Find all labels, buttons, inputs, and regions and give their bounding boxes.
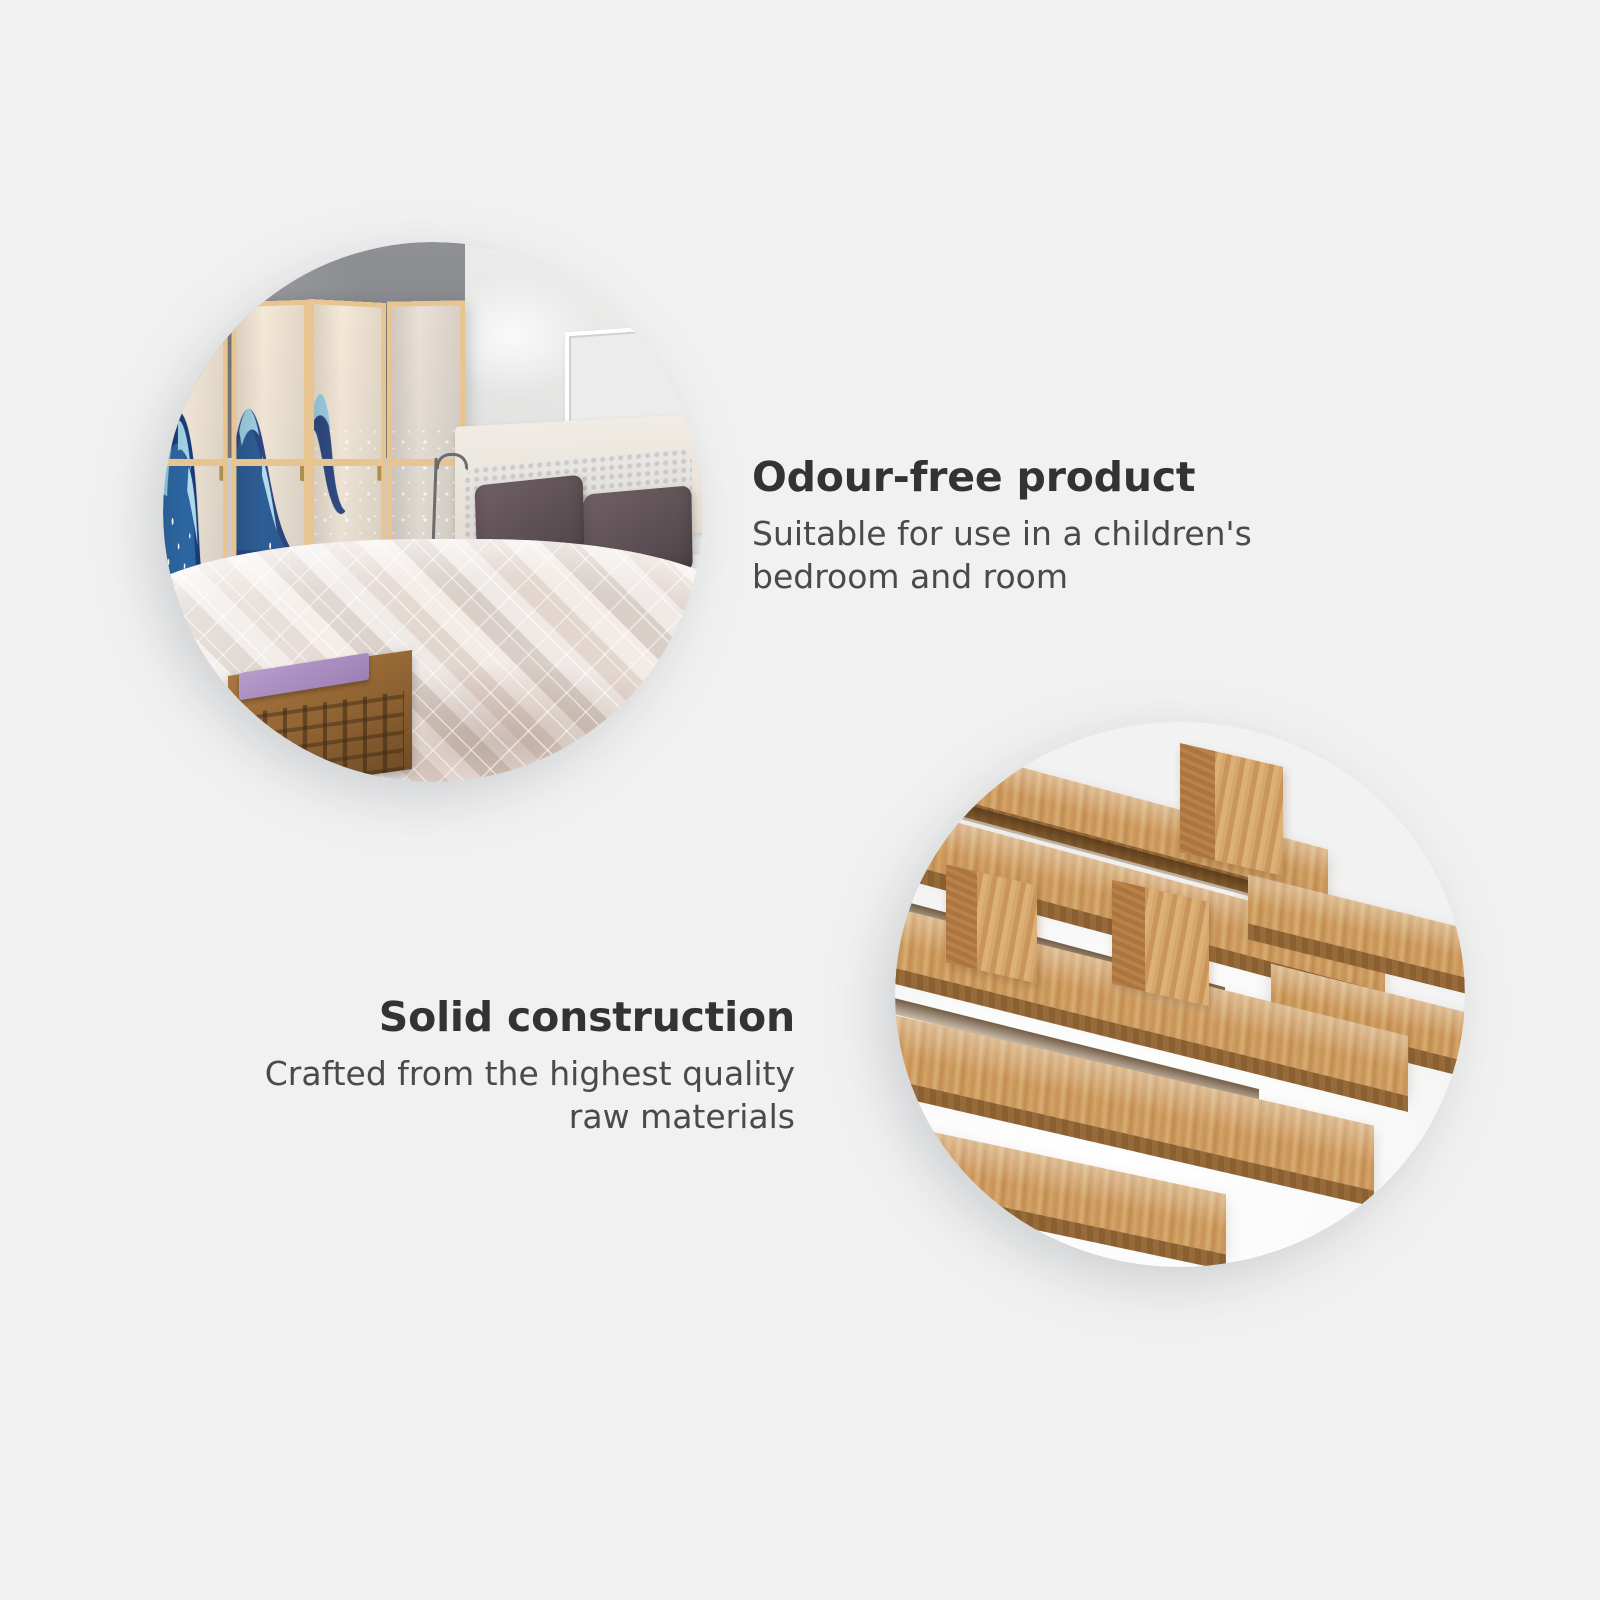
bedroom-scene bbox=[163, 242, 703, 782]
feature-description: Crafted from the highest quality raw mat… bbox=[200, 1053, 795, 1139]
promo-stage: Odour-free product Suitable for use in a… bbox=[0, 0, 1600, 1600]
block-side-face bbox=[1112, 880, 1145, 991]
wood-block bbox=[1112, 880, 1209, 1006]
bedroom-image-circle bbox=[163, 242, 703, 782]
block-side-face bbox=[946, 864, 977, 969]
wood-scene bbox=[895, 722, 1465, 1267]
bedroom-photo bbox=[163, 242, 703, 782]
feature-title: Solid construction bbox=[200, 995, 795, 1041]
feature-text-odour-free: Odour-free product Suitable for use in a… bbox=[752, 455, 1372, 599]
bench-lattice bbox=[242, 692, 404, 782]
panel-hinge bbox=[220, 466, 226, 482]
block-side-face bbox=[1180, 743, 1215, 860]
feature-description: Suitable for use in a children's bedroom… bbox=[752, 513, 1372, 599]
feature-title: Odour-free product bbox=[752, 455, 1372, 501]
wood-block bbox=[946, 864, 1037, 983]
wood-photo bbox=[895, 722, 1465, 1267]
wood-block bbox=[1180, 743, 1283, 876]
panel-hinge bbox=[377, 466, 384, 482]
wood-image-circle bbox=[895, 722, 1465, 1267]
panel-hinge bbox=[300, 466, 307, 482]
feature-text-solid-construction: Solid construction Crafted from the high… bbox=[200, 995, 795, 1139]
floor-lamp-shade bbox=[436, 453, 468, 471]
